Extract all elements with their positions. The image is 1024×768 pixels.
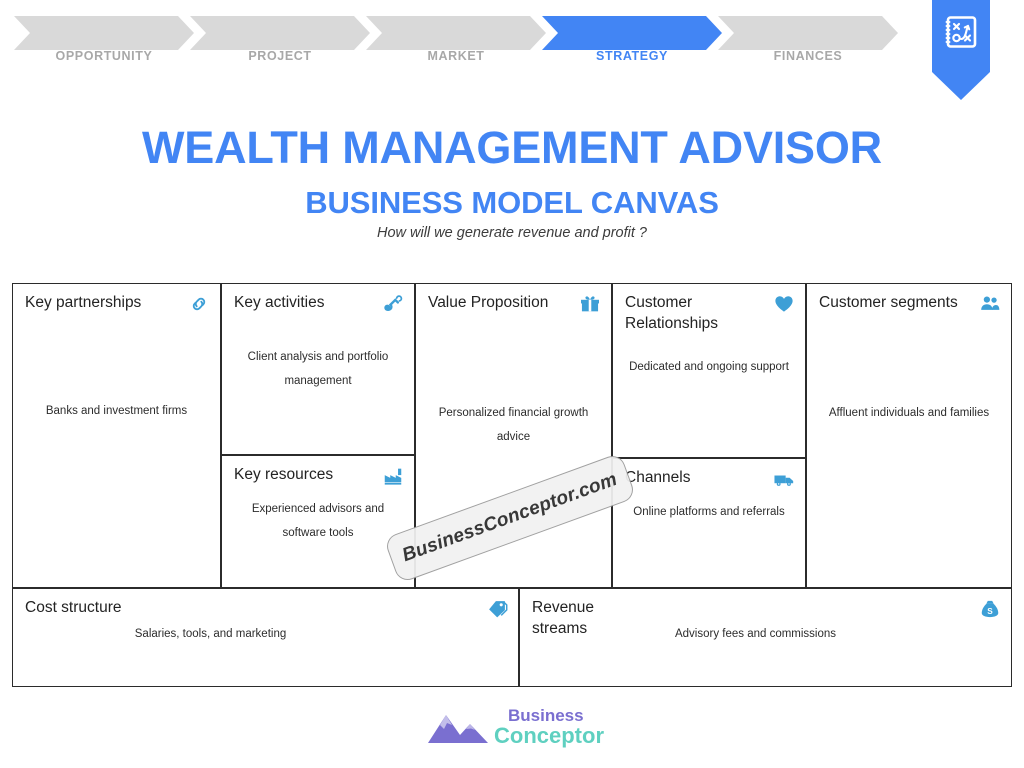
svg-text:S: S [987, 607, 993, 616]
truck-icon [773, 468, 795, 490]
canvas-cell-revenue-streams[interactable]: Revenue streams S Advisory fees and comm… [519, 588, 1012, 687]
logo-word-business: Business [494, 707, 609, 724]
cell-body-key-partnerships: Banks and investment firms [21, 400, 212, 424]
logo-wordmark: Business Conceptor [494, 707, 609, 747]
cell-body-cost-structure: Salaries, tools, and marketing [53, 623, 368, 647]
page-tagline: How will we generate revenue and profit … [0, 225, 1024, 241]
canvas-cell-customer-segments[interactable]: Customer segments Affluent individuals a… [806, 283, 1012, 588]
money-bag-icon: S [979, 598, 1001, 620]
canvas-cell-channels[interactable]: Channels Online platforms and referrals [612, 458, 806, 588]
step-label-project[interactable]: PROJECT [190, 46, 370, 66]
phase-step-bar: OPPORTUNITY PROJECT MARKET STRATEGY FINA… [0, 0, 1024, 110]
footer-logo[interactable]: Business Conceptor [426, 705, 606, 751]
step-chevron-opportunity[interactable] [14, 16, 194, 50]
shovel-icon [382, 293, 404, 315]
cell-body-revenue-streams: Advisory fees and commissions [630, 623, 881, 647]
canvas-cell-key-activities[interactable]: Key activities Client analysis and portf… [221, 283, 415, 455]
step-chevron-finances[interactable] [718, 16, 898, 50]
cell-title-key-activities: Key activities [234, 293, 374, 314]
heart-icon [773, 293, 795, 315]
step-chevron-project[interactable] [190, 16, 370, 50]
cell-title-channels: Channels [625, 468, 765, 489]
strategy-playbook-icon [943, 14, 979, 50]
canvas-cell-key-resources[interactable]: Key resources Experienced advisors and s… [221, 455, 415, 588]
logo-word-conceptor: Conceptor [494, 725, 609, 747]
cell-title-key-resources: Key resources [234, 465, 374, 486]
users-icon [979, 293, 1001, 315]
canvas-cell-customer-relationships[interactable]: Customer Relationships Dedicated and ong… [612, 283, 806, 458]
chain-link-icon [188, 293, 210, 315]
canvas-cell-cost-structure[interactable]: Cost structure Salaries, tools, and mark… [12, 588, 519, 687]
price-tag-icon [486, 598, 508, 620]
cell-body-key-resources: Experienced advisors and software tools [230, 498, 406, 545]
page-title: WEALTH MANAGEMENT ADVISOR [0, 124, 1024, 171]
business-model-canvas-grid: Key partnerships Banks and investment fi… [12, 283, 1012, 687]
gift-icon [579, 293, 601, 315]
step-label-finances[interactable]: FINANCES [718, 46, 898, 66]
step-label-market[interactable]: MARKET [366, 46, 546, 66]
cell-title-revenue-streams: Revenue streams [532, 598, 642, 640]
cell-body-value-proposition: Personalized financial growth advice [424, 402, 603, 449]
cell-title-key-partnerships: Key partnerships [25, 293, 180, 314]
phase-banner [932, 0, 990, 100]
canvas-cell-key-partnerships[interactable]: Key partnerships Banks and investment fi… [12, 283, 221, 588]
step-label-strategy[interactable]: STRATEGY [542, 46, 722, 66]
step-chevron-strategy[interactable] [542, 16, 722, 50]
cell-title-cost-structure: Cost structure [25, 598, 478, 619]
page-subtitle: BUSINESS MODEL CANVAS [0, 185, 1024, 221]
step-label-opportunity[interactable]: OPPORTUNITY [14, 46, 194, 66]
cell-body-customer-segments: Affluent individuals and families [815, 402, 1003, 426]
factory-icon [382, 465, 404, 487]
step-chevron-market[interactable] [366, 16, 546, 50]
title-block: WEALTH MANAGEMENT ADVISOR BUSINESS MODEL… [0, 124, 1024, 241]
cell-body-key-activities: Client analysis and portfolio management [230, 346, 406, 393]
cell-body-customer-relationships: Dedicated and ongoing support [621, 356, 797, 380]
cell-title-value-proposition: Value Proposition [428, 293, 571, 314]
cell-title-customer-relationships: Customer Relationships [625, 293, 765, 335]
cell-title-customer-segments: Customer segments [819, 293, 971, 314]
cell-body-channels: Online platforms and referrals [621, 501, 797, 525]
